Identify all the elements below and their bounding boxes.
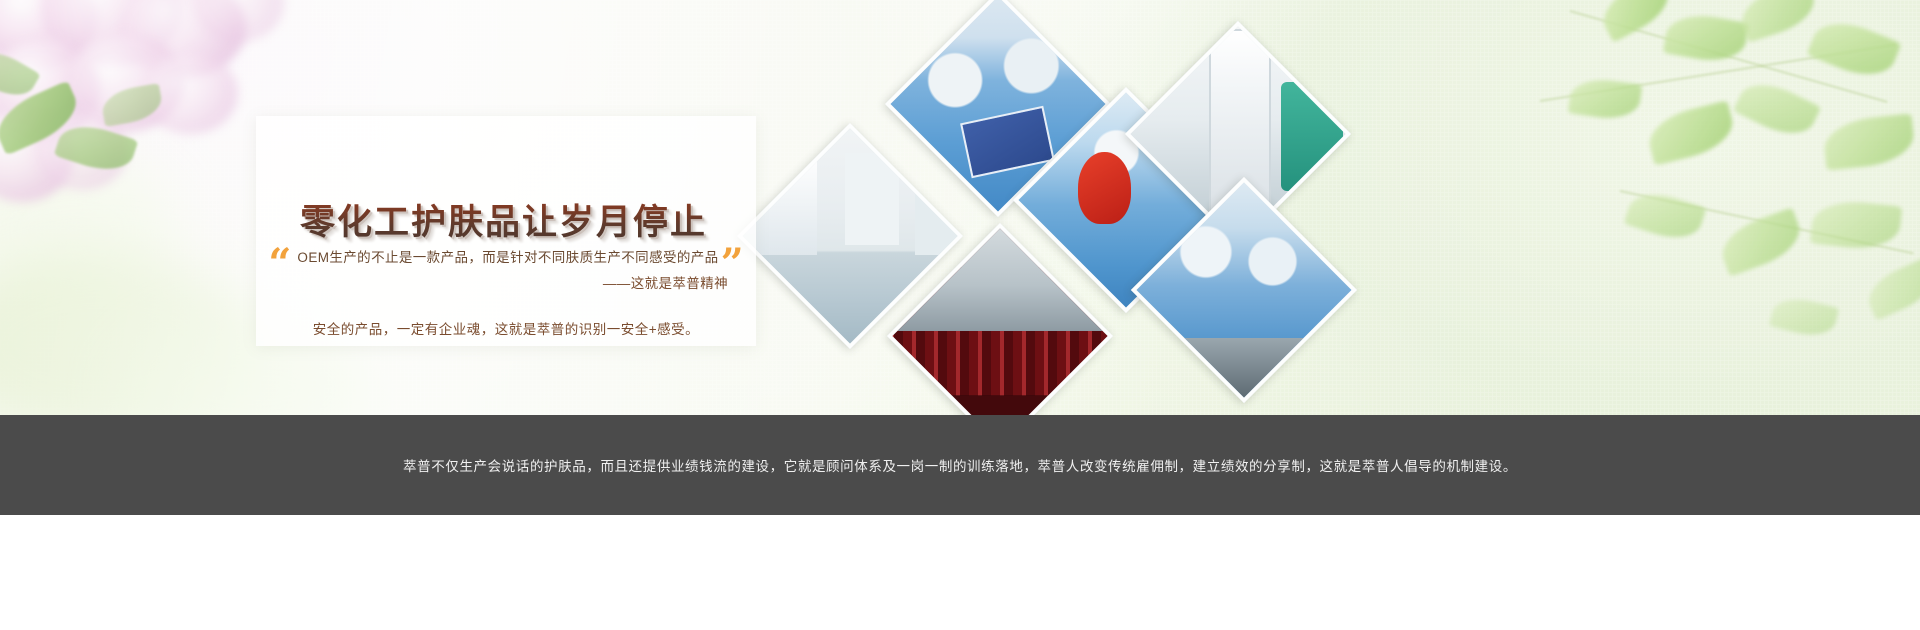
leaf-branch-decoration	[1420, 0, 1920, 410]
brand-tagline: 安全的产品，一定有企业魂，这就是萃普的识别一安全+感受。	[256, 318, 756, 338]
quote-text: OEM生产的不止是一款产品，而是针对不同肤质生产不同感受的产品	[297, 244, 718, 268]
bottom-caption-bar: 萃普不仅生产会说话的护肤品，而且还提供业绩钱流的建设，它就是顾问体系及一岗一制的…	[0, 415, 1920, 515]
quote-open-icon: “	[268, 250, 291, 279]
page-bottom-filler	[0, 515, 1920, 630]
photo-collage	[740, 34, 1360, 424]
message-card: 零化工护肤品让岁月停止 “ OEM生产的不止是一款产品，而是针对不同肤质生产不同…	[256, 116, 756, 346]
hero-banner: 零化工护肤品让岁月停止 “ OEM生产的不止是一款产品，而是针对不同肤质生产不同…	[0, 0, 1920, 630]
bottom-caption-text: 萃普不仅生产会说话的护肤品，而且还提供业绩钱流的建设，它就是顾问体系及一岗一制的…	[403, 455, 1517, 475]
quote-attribution: ——这就是萃普精神	[603, 272, 728, 292]
page-title: 零化工护肤品让岁月停止	[300, 194, 707, 245]
lilac-flower-decoration	[0, 0, 300, 230]
